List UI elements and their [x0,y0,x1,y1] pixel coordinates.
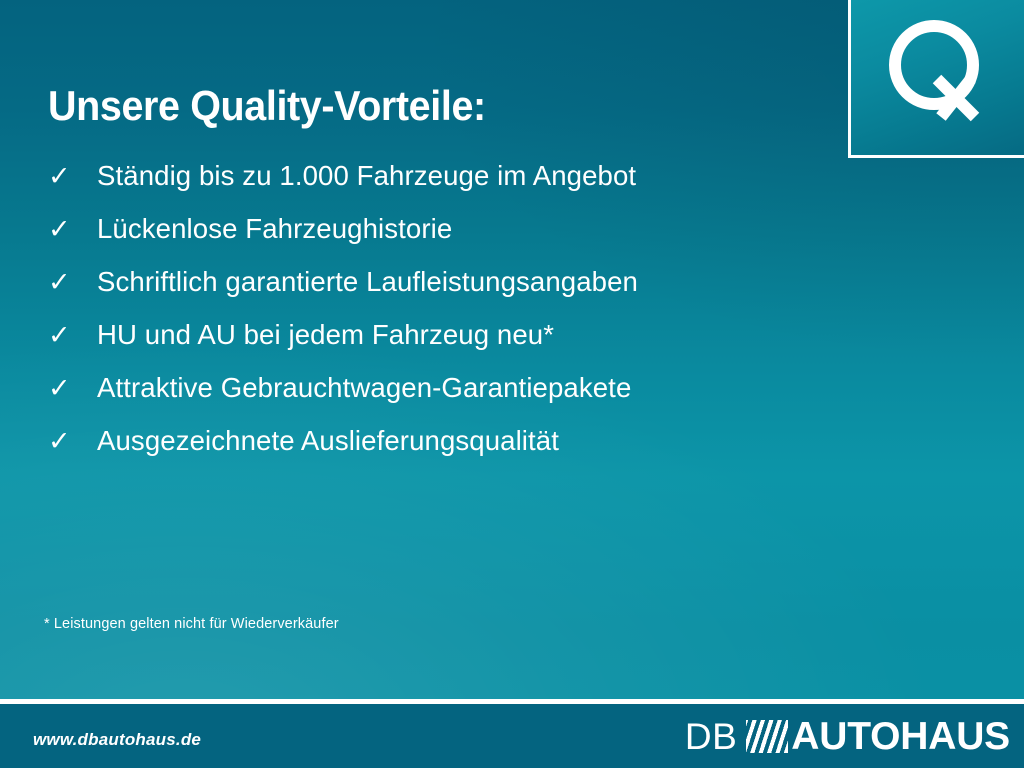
diagonal-stripes-icon [746,720,788,753]
promo-slide: Unsere Quality-Vorteile: ✓ Ständig bis z… [0,0,1024,768]
checkmark-icon: ✓ [48,322,97,349]
list-item: ✓ Lückenlose Fahrzeughistorie [48,215,878,268]
checkmark-icon: ✓ [48,163,97,190]
checkmark-icon: ✓ [48,216,97,243]
website-url[interactable]: www.dbautohaus.de [33,730,201,750]
list-item-label: Lückenlose Fahrzeughistorie [97,215,452,243]
list-item: ✓ Ständig bis zu 1.000 Fahrzeuge im Ange… [48,162,878,215]
list-item: ✓ Schriftlich garantierte Laufleistungsa… [48,268,878,321]
list-item: ✓ Attraktive Gebrauchtwagen-Garantiepake… [48,374,878,427]
checkmark-icon: ✓ [48,375,97,402]
db-autohaus-logo: DB AUTOHAUS [685,716,1010,756]
page-title: Unsere Quality-Vorteile: [48,84,486,128]
list-item-label: Attraktive Gebrauchtwagen-Garantiepakete [97,374,631,402]
footnote-text: * Leistungen gelten nicht für Wiederverk… [44,616,339,632]
checkmark-icon: ✓ [48,269,97,296]
list-item: ✓ Ausgezeichnete Auslieferungsqualität [48,427,878,480]
benefits-list: ✓ Ständig bis zu 1.000 Fahrzeuge im Ange… [48,162,878,480]
list-item: ✓ HU und AU bei jedem Fahrzeug neu* [48,321,878,374]
brand-name-text: AUTOHAUS [791,717,1010,756]
list-item-label: Ausgezeichnete Auslieferungsqualität [97,427,559,455]
checkmark-icon: ✓ [48,428,97,455]
list-item-label: Ständig bis zu 1.000 Fahrzeuge im Angebo… [97,162,636,190]
quality-q-logo-icon [851,0,1024,155]
brand-prefix-text: DB [685,718,737,755]
list-item-label: Schriftlich garantierte Laufleistungsang… [97,268,638,296]
list-item-label: HU und AU bei jedem Fahrzeug neu* [97,321,554,349]
quality-badge [848,0,1024,158]
